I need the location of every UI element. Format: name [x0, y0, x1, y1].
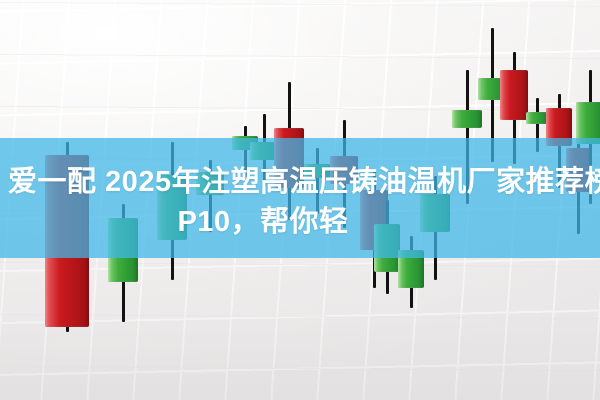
screenshot-stage: 爱一配 2025年注塑高温压铸油温机厂家推荐榜TO P10，帮你轻 [0, 0, 600, 400]
caption-line-1: 爱一配 2025年注塑高温压铸油温机厂家推荐榜TO [0, 162, 600, 202]
candlestick-body-up [526, 112, 548, 124]
caption-line-2: P10，帮你轻 [0, 202, 600, 242]
caption-text: 爱一配 2025年注塑高温压铸油温机厂家推荐榜TO P10，帮你轻 [0, 162, 600, 242]
candlestick-body-down [500, 70, 528, 120]
